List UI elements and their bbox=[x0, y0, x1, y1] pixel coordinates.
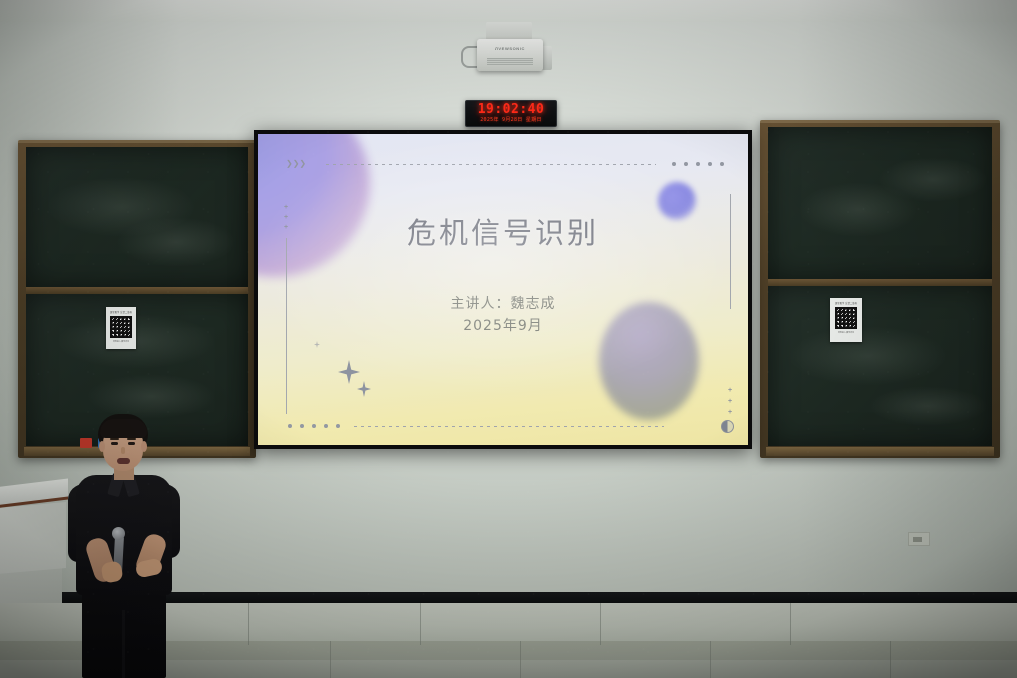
dashed-rule-top bbox=[326, 164, 656, 165]
floor-tile-seam bbox=[520, 641, 521, 678]
presenter-hair-fringe bbox=[100, 419, 147, 438]
led-wall-clock: 19:02:40 2025年 9月28日 星期日 bbox=[465, 100, 557, 127]
qr-poster-title: 课堂教学 反馈二维码 bbox=[835, 301, 857, 305]
dot bbox=[336, 424, 340, 428]
qr-poster-footer: 扫码进入 教学评价 bbox=[113, 340, 130, 343]
half-circle-icon bbox=[721, 420, 734, 433]
dot bbox=[288, 424, 292, 428]
qr-poster-footer: 扫码进入 教学评价 bbox=[838, 331, 855, 334]
dot bbox=[300, 424, 304, 428]
blackboard-panel-upper bbox=[768, 127, 992, 279]
presenter-brow-right bbox=[127, 438, 136, 440]
floor-tile-seam bbox=[710, 641, 711, 678]
dot-row-top bbox=[672, 162, 724, 166]
projector-brand-label: ЛVEWSONIC bbox=[477, 46, 543, 51]
clock-time-display: 19:02:40 bbox=[478, 103, 545, 116]
projector-vent bbox=[487, 58, 533, 65]
blackboard-left-surface bbox=[26, 147, 248, 446]
qr-code-image bbox=[110, 316, 132, 338]
presenter-brow-left bbox=[110, 438, 119, 440]
floor-tile-seam bbox=[420, 603, 421, 645]
lectern-body bbox=[0, 502, 66, 574]
slide-presenter-line: 主讲人：魏志成 bbox=[258, 293, 748, 315]
dot-row-bottom bbox=[288, 424, 340, 428]
dot bbox=[672, 162, 676, 166]
classroom-scene: 课堂教学 反馈二维码 扫码进入 教学评价 课堂教学 反馈二维码 扫码进入 教学评… bbox=[0, 0, 1017, 678]
decorative-blob-topleft bbox=[258, 134, 370, 277]
dot bbox=[720, 162, 724, 166]
floor-tile-seam bbox=[248, 603, 249, 645]
slide-subtitle: 主讲人：魏志成 2025年9月 bbox=[258, 293, 748, 337]
ceiling-projector: ЛVEWSONIC bbox=[477, 39, 543, 71]
slide-date-line: 2025年9月 bbox=[258, 315, 748, 337]
dot bbox=[324, 424, 328, 428]
blackboard-panel-lower bbox=[768, 286, 992, 446]
frame-highlight bbox=[18, 140, 256, 143]
floor-tile-seam bbox=[890, 641, 891, 678]
blackboard-divider bbox=[768, 279, 992, 286]
plus-mark-icon: + bbox=[728, 398, 732, 405]
clock-date-display: 2025年 9月28日 星期日 bbox=[480, 117, 542, 124]
qr-poster-title: 课堂教学 反馈二维码 bbox=[110, 310, 132, 314]
chalk-tray bbox=[766, 447, 994, 456]
projection-screen: ❯❯❯ + + + + + + 危机信号识别 bbox=[254, 130, 752, 449]
qr-code-image bbox=[835, 307, 857, 329]
dot bbox=[696, 162, 700, 166]
presenter-eye-right bbox=[128, 442, 135, 445]
floor-tile-seam bbox=[790, 603, 791, 645]
sparkle-icon-tiny bbox=[314, 341, 320, 348]
projector-ceiling-mount bbox=[486, 22, 532, 40]
dashed-rule-bottom bbox=[354, 426, 664, 427]
blackboard-left: 课堂教学 反馈二维码 扫码进入 教学评价 bbox=[18, 140, 256, 458]
presenter-ear-left bbox=[99, 441, 105, 452]
dot bbox=[684, 162, 688, 166]
blackboard-right-surface bbox=[768, 127, 992, 446]
sparkle-icon-small bbox=[357, 381, 371, 397]
qr-poster-left[interactable]: 课堂教学 反馈二维码 扫码进入 教学评价 bbox=[106, 307, 136, 349]
plus-mark-icon: + bbox=[728, 387, 732, 394]
presentation-slide[interactable]: ❯❯❯ + + + + + + 危机信号识别 bbox=[258, 134, 748, 445]
sparkle-icon-large bbox=[338, 360, 360, 384]
blackboard-right: 课堂教学 反馈二维码 扫码进入 教学评价 bbox=[760, 120, 1000, 458]
presenter-mouth bbox=[117, 458, 130, 464]
presenter-nose bbox=[121, 447, 125, 454]
presenter bbox=[62, 414, 184, 678]
plus-mark-icon: + bbox=[728, 409, 732, 416]
presenter-ear-right bbox=[141, 441, 147, 452]
qr-poster-right[interactable]: 课堂教学 反馈二维码 扫码进入 教学评价 bbox=[830, 298, 862, 342]
blackboard-divider bbox=[26, 287, 248, 294]
slide-title: 危机信号识别 bbox=[258, 210, 748, 252]
presenter-eye-left bbox=[111, 442, 118, 445]
blackboard-panel-upper bbox=[26, 147, 248, 287]
floor-tile-seam bbox=[600, 603, 601, 645]
frame-highlight bbox=[760, 120, 1000, 123]
power-outlet[interactable] bbox=[908, 532, 930, 546]
lectern[interactable] bbox=[0, 483, 70, 613]
microphone-head-icon bbox=[112, 527, 125, 540]
presenter-leg-seam bbox=[122, 610, 125, 678]
chevron-arrows-icon: ❯❯❯ bbox=[286, 160, 306, 168]
floor-tile-seam bbox=[330, 641, 331, 678]
dot bbox=[312, 424, 316, 428]
projector-bracket-left bbox=[461, 46, 477, 68]
dot bbox=[708, 162, 712, 166]
